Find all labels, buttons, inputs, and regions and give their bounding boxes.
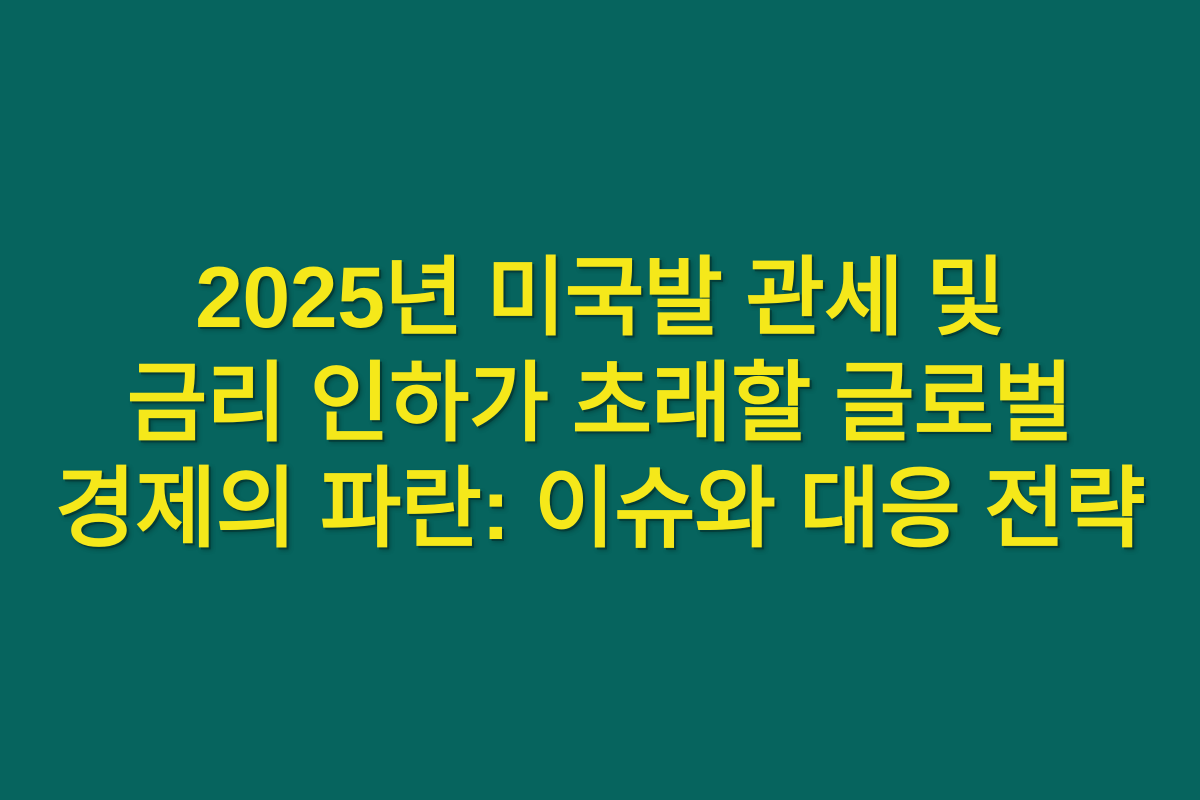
title-card: 2025년 미국발 관세 및 금리 인하가 초래할 글로벌 경제의 파란: 이슈… <box>0 0 1200 800</box>
title-line-2: 금리 인하가 초래할 글로벌 <box>24 351 1176 456</box>
title-line-1: 2025년 미국발 관세 및 <box>24 246 1176 351</box>
title-block: 2025년 미국발 관세 및 금리 인하가 초래할 글로벌 경제의 파란: 이슈… <box>0 246 1200 561</box>
title-line-3: 경제의 파란: 이슈와 대응 전략 <box>24 456 1176 561</box>
